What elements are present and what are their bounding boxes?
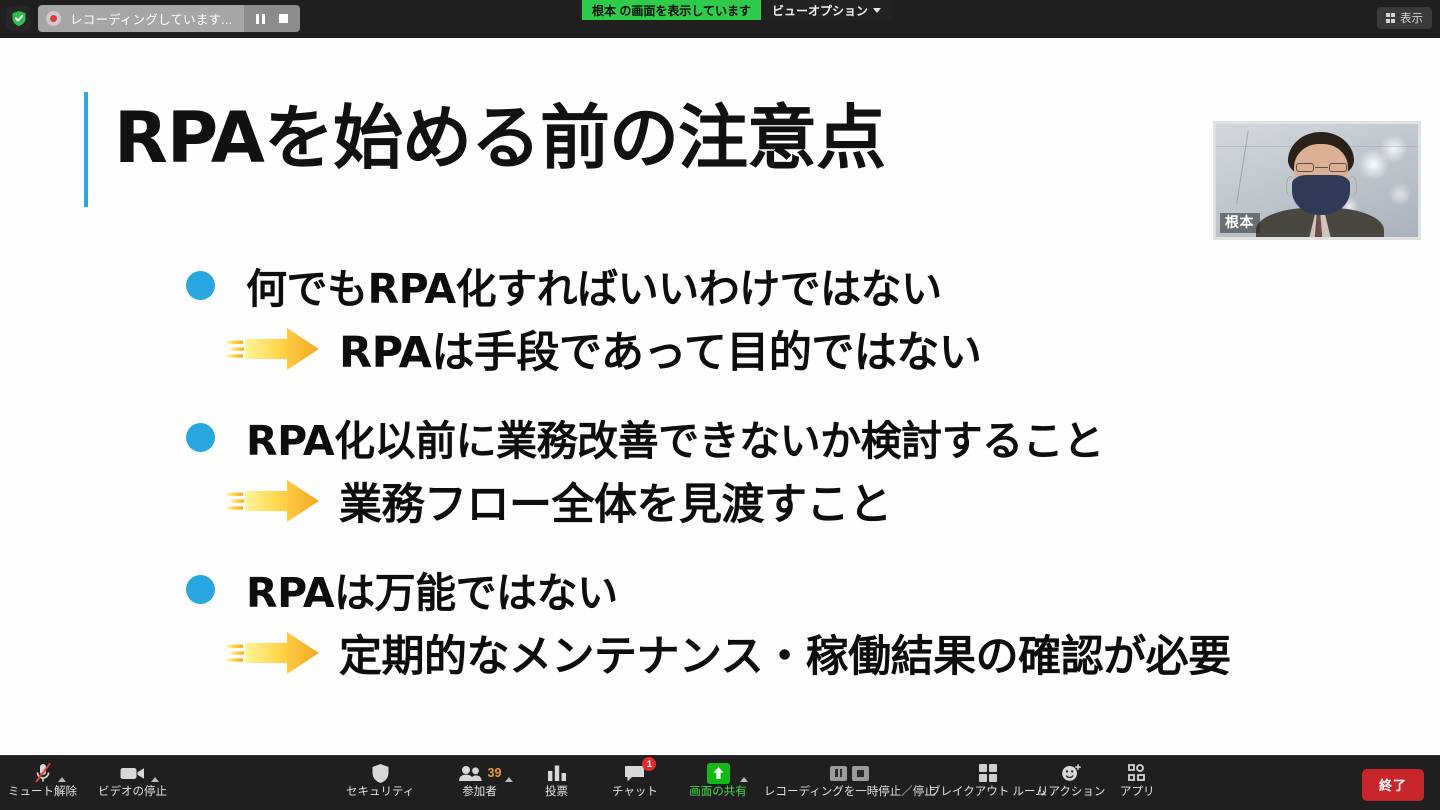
security-shield-badge[interactable] — [6, 6, 31, 31]
bullet-row: RPA化以前に業務改善できないか検討すること — [0, 408, 1440, 466]
right-arrow-icon — [225, 630, 321, 676]
toolbar-label-polls: 投票 — [545, 787, 568, 799]
top-bar: レコーディングしています... 根本 の画面を表示しています ビューオプション … — [0, 0, 1440, 38]
apps-icon — [1126, 761, 1148, 785]
glasses-icon — [1295, 163, 1348, 173]
view-layout-button[interactable]: 表示 — [1377, 7, 1433, 29]
pause-stop-icon — [830, 761, 869, 785]
grid-view-icon — [1386, 13, 1396, 23]
toolbar-label-mute: ミュート解除 — [8, 787, 77, 799]
smiley-plus-icon — [1060, 761, 1083, 785]
bullet-group: 何でもRPA化すればいいわけではない — [0, 256, 1440, 380]
toolbar-label-chat: チャット — [612, 787, 658, 799]
bullet-dot-icon — [186, 423, 215, 452]
bullet-row: 何でもRPA化すればいいわけではない — [0, 256, 1440, 314]
chat-bubble-icon: 1 — [623, 761, 646, 785]
toolbar-item-apps[interactable]: アプリ — [1120, 761, 1155, 807]
meeting-toolbar: ミュート解除 ビデオの停止 セキュリティ — [0, 755, 1440, 810]
arrow-text: 業務フロー全体を見渡すこと — [339, 470, 892, 532]
participant-name-label: 根本 — [1220, 213, 1260, 234]
toolbar-item-breakout-rooms[interactable]: ブレイクアウト ルーム — [929, 761, 1047, 807]
bullet-dot-icon — [186, 271, 215, 300]
bullet-text: 何でもRPA化すればいいわけではない — [246, 255, 942, 315]
bullet-text: RPAは万能ではない — [246, 559, 618, 619]
zoom-meeting-window: レコーディングしています... 根本 の画面を表示しています ビューオプション … — [0, 0, 1440, 810]
toolbar-item-share-screen[interactable]: 画面の共有 — [678, 761, 758, 807]
screen-share-banner: 根本 の画面を表示しています ビューオプション — [582, 0, 892, 20]
toolbar-item-polls[interactable]: 投票 — [545, 761, 568, 807]
stop-icon[interactable] — [279, 14, 288, 23]
view-toggle-label: 表示 — [1400, 10, 1423, 26]
toolbar-item-recording[interactable]: レコーディングを一時停止／停止 — [764, 761, 936, 807]
view-options-button[interactable]: ビューオプション — [761, 0, 892, 20]
bullet-dot-icon — [186, 575, 215, 604]
pause-icon[interactable] — [256, 14, 265, 24]
page-title: RPAを始める前の注意点 — [114, 92, 885, 207]
slide-title-block: RPAを始める前の注意点 — [84, 92, 885, 207]
toolbar-item-chat[interactable]: 1 チャット — [612, 761, 658, 807]
arrow-row: RPAは手段であって目的ではない — [0, 318, 1440, 380]
toolbar-item-mute[interactable]: ミュート解除 — [8, 761, 77, 807]
share-screen-up-arrow-icon — [678, 761, 758, 785]
bar-chart-icon — [546, 761, 568, 785]
chevron-down-icon — [873, 8, 881, 13]
toolbar-label-security: セキュリティ — [346, 787, 414, 799]
toolbar-label-apps: アプリ — [1120, 787, 1155, 799]
toolbar-item-security[interactable]: セキュリティ — [346, 761, 414, 807]
arrow-text: RPAは手段であって目的ではない — [339, 318, 981, 380]
recording-controls[interactable] — [244, 5, 300, 32]
record-dot-icon — [46, 11, 61, 26]
toolbar-label-share-screen: 画面の共有 — [689, 787, 747, 799]
shield-icon — [371, 761, 390, 785]
bullet-text: RPA化以前に業務改善できないか検討すること — [246, 407, 1104, 467]
recording-label: レコーディングしています... — [70, 9, 232, 28]
bullet-group: RPA化以前に業務改善できないか検討すること 業務フロー全体を見渡すこと — [0, 408, 1440, 532]
slide-bullet-list: 何でもRPA化すればいいわけではない — [0, 256, 1440, 712]
pause-recording-icon[interactable] — [830, 766, 847, 781]
right-arrow-icon — [225, 326, 321, 372]
end-meeting-button[interactable]: 終了 — [1362, 769, 1424, 801]
title-accent-bar — [84, 92, 88, 207]
people-icon: 39 — [437, 761, 522, 785]
view-options-label: ビューオプション — [772, 2, 868, 19]
arrow-row: 業務フロー全体を見渡すこと — [0, 470, 1440, 532]
shield-check-icon — [11, 10, 27, 27]
background-decor — [1236, 130, 1249, 203]
arrow-row: 定期的なメンテナンス・稼働結果の確認が必要 — [0, 622, 1440, 684]
toolbar-label-recording: レコーディングを一時停止／停止 — [764, 787, 936, 799]
bullet-group: RPAは万能ではない 定期的なメンテナンス・稼働結果の確認が必要 — [0, 560, 1440, 684]
microphone-muted-icon — [10, 761, 76, 785]
bullet-row: RPAは万能ではない — [0, 560, 1440, 618]
arrow-text: 定期的なメンテナンス・稼働結果の確認が必要 — [339, 622, 1231, 684]
video-camera-icon — [95, 761, 170, 785]
toolbar-item-video[interactable]: ビデオの停止 — [95, 761, 170, 807]
share-banner-text: 根本 の画面を表示しています — [582, 0, 761, 20]
toolbar-item-participants[interactable]: 39 参加者 — [437, 761, 522, 807]
stop-recording-icon[interactable] — [852, 766, 869, 781]
toolbar-label-reactions: リアクション — [1037, 787, 1105, 799]
right-arrow-icon — [225, 478, 321, 524]
recording-indicator[interactable]: レコーディングしています... — [38, 5, 300, 32]
toolbar-label-video: ビデオの停止 — [98, 787, 167, 799]
self-video-thumbnail[interactable]: 根本 — [1213, 121, 1421, 240]
toolbar-label-participants: 参加者 — [462, 787, 497, 799]
toolbar-item-reactions[interactable]: リアクション — [1037, 761, 1105, 807]
recording-status: レコーディングしています... — [38, 5, 244, 32]
toolbar-label-breakout-rooms: ブレイクアウト ルーム — [929, 787, 1047, 799]
chat-unread-badge: 1 — [642, 757, 656, 771]
participants-count: 39 — [488, 766, 502, 780]
breakout-rooms-grid-icon — [979, 761, 998, 785]
